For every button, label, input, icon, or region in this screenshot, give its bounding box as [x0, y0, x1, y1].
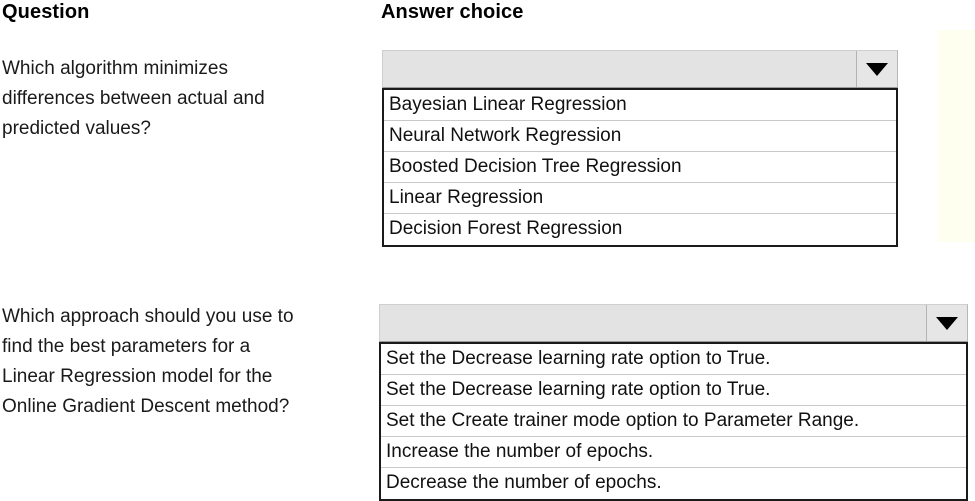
question-1-line-3: predicted values? [2, 114, 372, 144]
answer-dropdown-2-option-list[interactable]: Set the Decrease learning rate option to… [379, 342, 968, 501]
question-2-line-3: Linear Regression model for the [2, 362, 372, 392]
answer-dropdown-1-value [383, 51, 856, 87]
option-item[interactable]: Decrease the number of epochs. [381, 468, 966, 499]
answer-dropdown-1-option-list[interactable]: Bayesian Linear Regression Neural Networ… [382, 88, 898, 247]
question-2-line-4: Online Gradient Descent method? [2, 392, 372, 422]
question-1-line-1: Which algorithm minimizes [2, 54, 372, 84]
page-tint-overlay [938, 30, 975, 242]
option-item[interactable]: Linear Regression [384, 183, 896, 214]
question-1-prompt: Which algorithm minimizes differences be… [2, 54, 372, 144]
option-item[interactable]: Set the Decrease learning rate option to… [381, 375, 966, 406]
question-1-line-2: differences between actual and [2, 84, 372, 114]
option-item[interactable]: Boosted Decision Tree Regression [384, 152, 896, 183]
option-item[interactable]: Neural Network Regression [384, 121, 896, 152]
answer-dropdown-2-value [380, 305, 926, 341]
answer-dropdown-2-toggle[interactable] [926, 305, 967, 341]
column-header-question: Question [2, 0, 89, 24]
question-2-prompt: Which approach should you use to find th… [2, 302, 372, 422]
answer-dropdown-1-toggle[interactable] [856, 51, 897, 87]
option-item[interactable]: Increase the number of epochs. [381, 437, 966, 468]
chevron-down-icon [936, 317, 958, 330]
chevron-down-icon [866, 63, 888, 76]
option-item[interactable]: Bayesian Linear Regression [384, 90, 896, 121]
question-2-line-2: find the best parameters for a [2, 332, 372, 362]
question-2-line-1: Which approach should you use to [2, 302, 372, 332]
answer-dropdown-1[interactable] [382, 50, 898, 88]
answer-dropdown-2[interactable] [379, 304, 968, 342]
option-item[interactable]: Set the Decrease learning rate option to… [381, 344, 966, 375]
column-header-answer-choice: Answer choice [381, 0, 523, 24]
option-item[interactable]: Decision Forest Regression [384, 214, 896, 245]
option-item[interactable]: Set the Create trainer mode option to Pa… [381, 406, 966, 437]
